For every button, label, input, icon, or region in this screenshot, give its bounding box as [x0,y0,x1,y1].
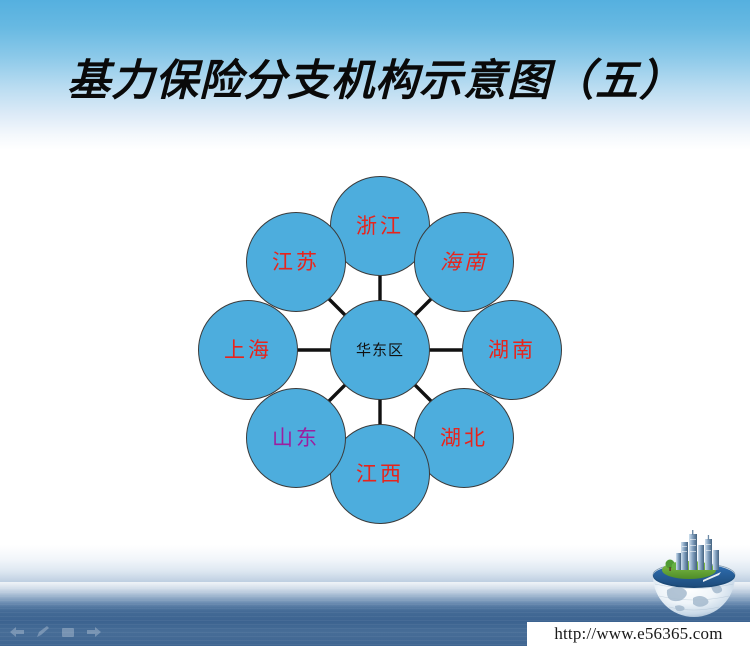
pen-icon[interactable] [35,625,51,639]
node-hunan[interactable]: 湖南 [462,300,562,400]
node-jiangsu-label: 江苏 [272,252,320,273]
node-hainan[interactable]: 海南 [414,212,514,312]
node-center-label: 华东区 [356,343,404,358]
node-hunan-label: 湖南 [488,340,536,361]
page-title: 基力保险分支机构示意图（五） [0,58,750,105]
node-hainan-label: 海南 [440,252,488,273]
node-shanghai[interactable]: 上海 [198,300,298,400]
url-watermark: http://www.e56365.com [527,622,750,646]
back-arrow-icon[interactable] [8,625,26,639]
globe-city-icon [645,528,743,620]
node-jiangxi-label: 江西 [356,464,404,485]
slideshow-nav-controls[interactable] [8,623,104,641]
node-jiangsu[interactable]: 江苏 [246,212,346,312]
url-text: http://www.e56365.com [554,624,722,644]
node-shandong-label: 山东 [272,428,320,449]
node-zhejiang-label: 浙江 [356,216,404,237]
slide-canvas: 基力保险分支机构示意图（五） 华东区 浙江 海南 [0,0,750,646]
node-shanghai-label: 上海 [224,340,272,361]
node-center[interactable]: 华东区 [330,300,430,400]
menu-square-icon[interactable] [60,625,76,639]
node-hubei-label: 湖北 [440,428,488,449]
node-shandong[interactable]: 山东 [246,388,346,488]
forward-arrow-icon[interactable] [85,625,103,639]
org-diagram: 华东区 浙江 海南 湖南 湖北 江西 山东 上海 江苏 [170,160,590,530]
